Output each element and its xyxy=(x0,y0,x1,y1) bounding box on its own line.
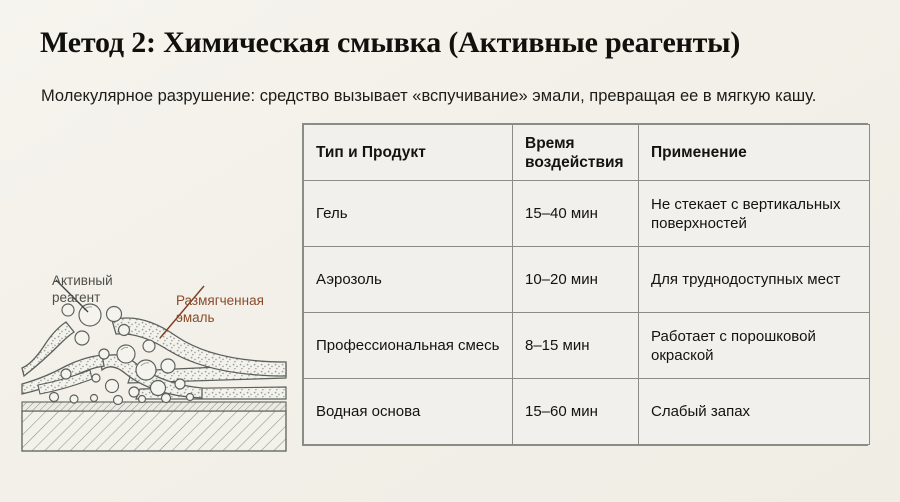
cell-type-product: Гель xyxy=(304,181,513,247)
table-row: Аэрозоль 10–20 мин Для труднодоступных м… xyxy=(304,247,870,313)
cell-exposure-time: 15–40 мин xyxy=(513,181,639,247)
table-row: Водная основа 15–60 мин Слабый запах xyxy=(304,379,870,445)
cell-exposure-time: 15–60 мин xyxy=(513,379,639,445)
cell-application: Слабый запах xyxy=(639,379,870,445)
cell-type-product: Водная основа xyxy=(304,379,513,445)
header-application: Применение xyxy=(639,125,870,181)
page-title: Метод 2: Химическая смывка (Активные реа… xyxy=(40,26,870,60)
cell-application: Работает с порошковой окраской xyxy=(639,313,870,379)
cell-application: Для труднодоступных мест xyxy=(639,247,870,313)
cross-section-diagram: Активный реагент Размягченная эмаль xyxy=(8,258,300,488)
slide-canvas: Метод 2: Химическая смывка (Активные реа… xyxy=(0,0,900,502)
label-active-reagent: Активный реагент xyxy=(52,272,113,306)
spec-table-container: Тип и Продукт Время воздействия Применен… xyxy=(302,123,868,446)
cell-application: Не стекает с вертикальных поверхностей xyxy=(639,181,870,247)
softened-enamel-flap-left xyxy=(22,322,104,394)
cell-type-product: Профессиональная смесь xyxy=(304,313,513,379)
substrate-layer xyxy=(22,411,286,451)
spec-table: Тип и Продукт Время воздействия Применен… xyxy=(303,124,870,445)
cell-exposure-time: 10–20 мин xyxy=(513,247,639,313)
label-softened-enamel: Размягченная эмаль xyxy=(176,292,264,326)
table-row: Профессиональная смесь 8–15 мин Работает… xyxy=(304,313,870,379)
primer-layer xyxy=(22,402,286,411)
header-type-product: Тип и Продукт xyxy=(304,125,513,181)
header-exposure-time: Время воздействия xyxy=(513,125,639,181)
page-subtitle: Молекулярное разрушение: средство вызыва… xyxy=(41,84,861,109)
cell-type-product: Аэрозоль xyxy=(304,247,513,313)
table-header-row: Тип и Продукт Время воздействия Применен… xyxy=(304,125,870,181)
table-row: Гель 15–40 мин Не стекает с вертикальных… xyxy=(304,181,870,247)
cell-exposure-time: 8–15 мин xyxy=(513,313,639,379)
